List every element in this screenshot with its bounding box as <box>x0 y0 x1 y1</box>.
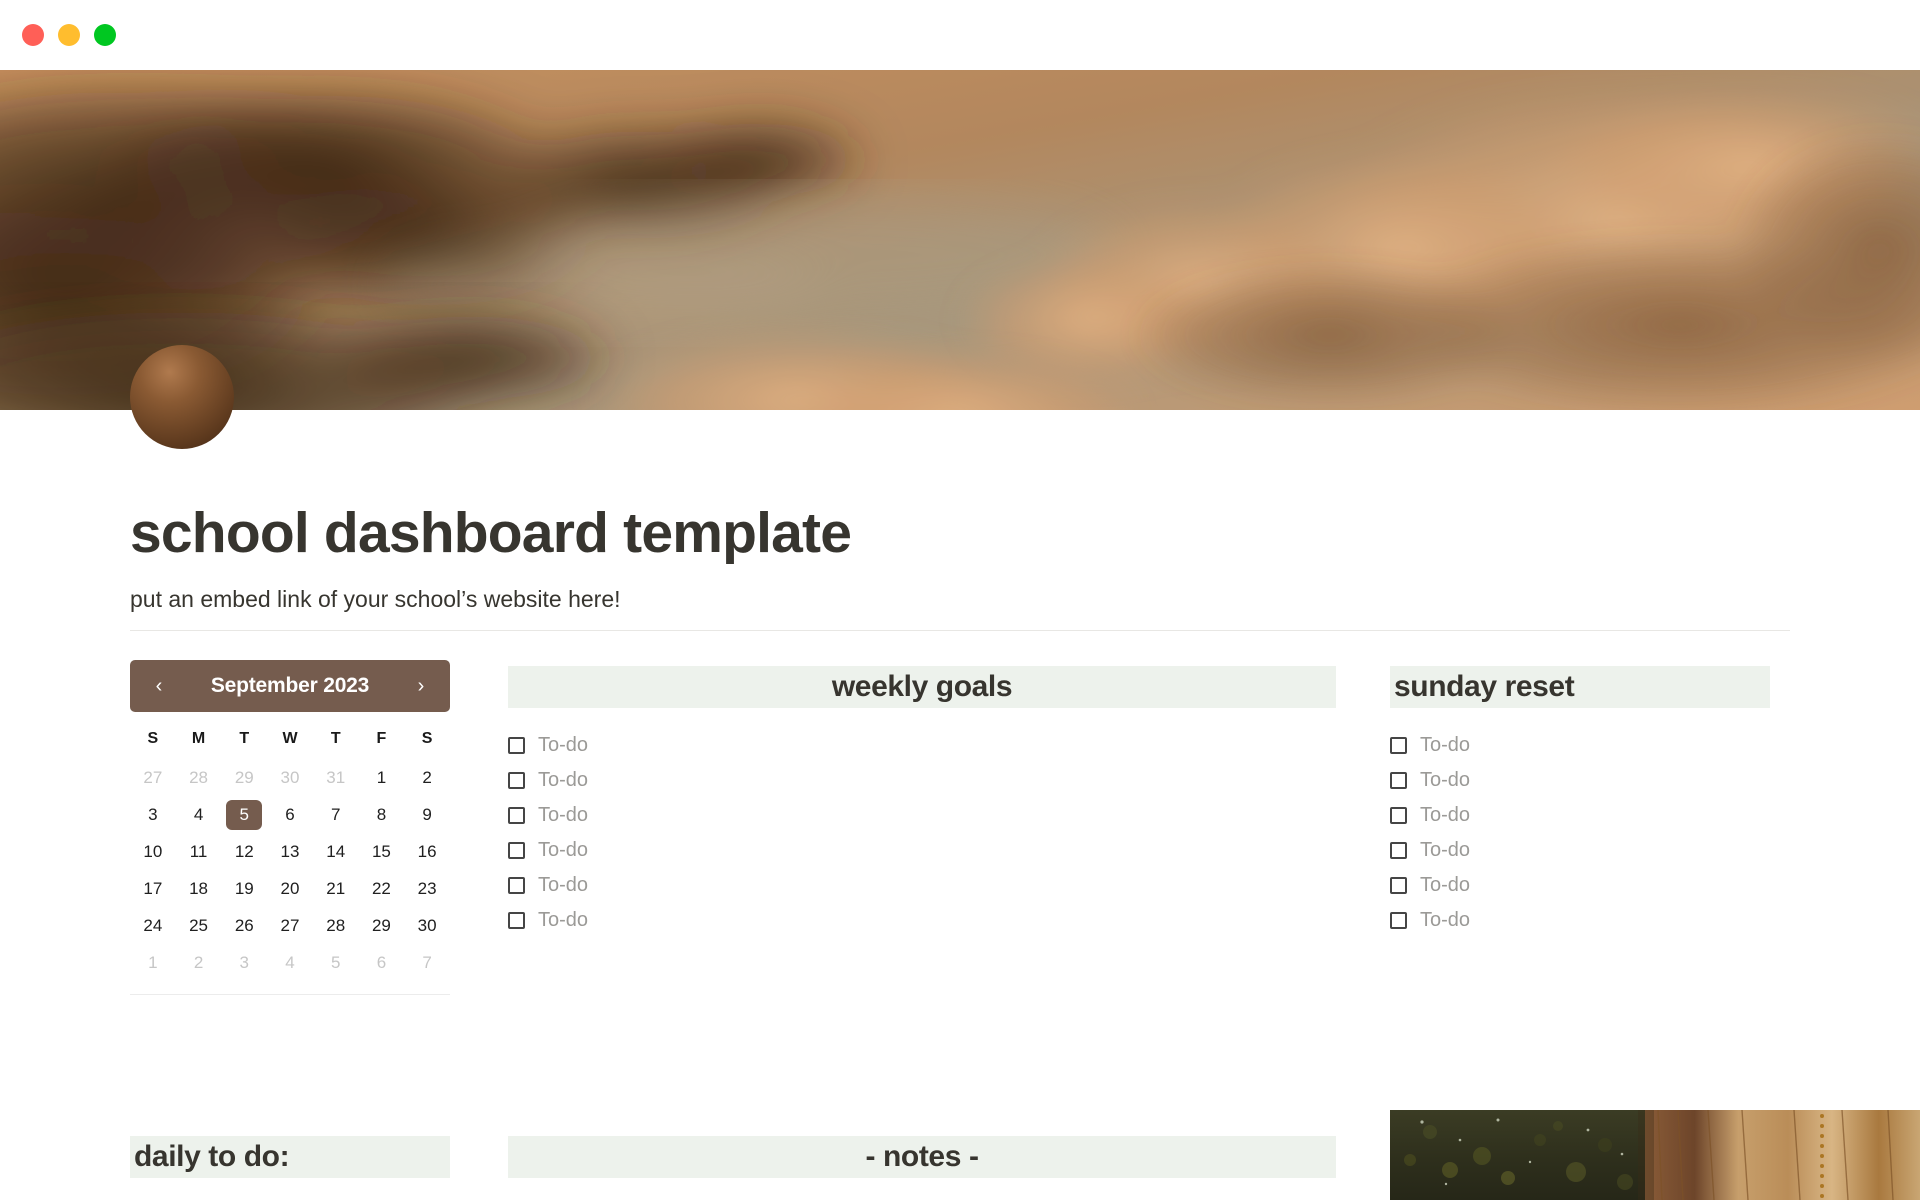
checkbox-icon[interactable] <box>1390 807 1407 824</box>
calendar-day[interactable]: 7 <box>404 948 450 978</box>
bottom-photo[interactable] <box>1390 1110 1920 1200</box>
weekly-goal-label: To-do <box>538 769 588 792</box>
weekly-goal-label: To-do <box>538 804 588 827</box>
checkbox-icon[interactable] <box>1390 912 1407 929</box>
weekly-goal-label: To-do <box>538 874 588 897</box>
calendar-day[interactable]: 23 <box>404 874 450 904</box>
weekly-goal-item[interactable]: To-do <box>508 903 1336 938</box>
checkbox-icon[interactable] <box>1390 772 1407 789</box>
checkbox-icon[interactable] <box>508 877 525 894</box>
calendar-day[interactable]: 3 <box>221 948 267 978</box>
weekly-goal-label: To-do <box>538 839 588 862</box>
notes-header: - notes - <box>508 1136 1336 1178</box>
sunday-reset-item[interactable]: To-do <box>1390 833 1770 868</box>
calendar-dow-3: W <box>267 730 313 756</box>
calendar-dow-1: M <box>176 730 222 756</box>
calendar-day[interactable]: 28 <box>176 763 222 793</box>
sunday-reset-label: To-do <box>1420 874 1470 897</box>
weekly-goal-item[interactable]: To-do <box>508 868 1336 903</box>
calendar-day[interactable]: 26 <box>221 911 267 941</box>
calendar-day[interactable]: 22 <box>359 874 405 904</box>
avatar[interactable] <box>130 345 234 449</box>
page-body: school dashboard template put an embed l… <box>0 410 1920 1200</box>
daily-todo-title: daily to do: <box>134 1140 289 1174</box>
maximize-button[interactable] <box>94 24 116 46</box>
notes-title: - notes - <box>865 1140 978 1174</box>
calendar-day[interactable]: 28 <box>313 911 359 941</box>
weekly-goal-item[interactable]: To-do <box>508 728 1336 763</box>
calendar-day[interactable]: 27 <box>130 763 176 793</box>
weekly-goal-label: To-do <box>538 734 588 757</box>
daily-todo-header: daily to do: <box>130 1136 450 1178</box>
calendar-day[interactable]: 12 <box>221 837 267 867</box>
sunday-reset-list: To-doTo-doTo-doTo-doTo-doTo-do <box>1390 728 1770 938</box>
checkbox-icon[interactable] <box>1390 737 1407 754</box>
calendar-day[interactable]: 5 <box>313 948 359 978</box>
header-divider <box>130 630 1790 631</box>
sunday-reset-item[interactable]: To-do <box>1390 868 1770 903</box>
weekly-goals-title: weekly goals <box>832 670 1012 704</box>
sunday-reset-label: To-do <box>1420 769 1470 792</box>
calendar-day[interactable]: 1 <box>359 763 405 793</box>
calendar-day[interactable]: 17 <box>130 874 176 904</box>
calendar-day[interactable]: 31 <box>313 763 359 793</box>
calendar-day[interactable]: 2 <box>176 948 222 978</box>
sunday-reset-label: To-do <box>1420 909 1470 932</box>
calendar-footer-divider <box>130 994 450 995</box>
calendar-day[interactable]: 10 <box>130 837 176 867</box>
checkbox-icon[interactable] <box>1390 877 1407 894</box>
calendar-day[interactable]: 6 <box>359 948 405 978</box>
calendar-day[interactable]: 24 <box>130 911 176 941</box>
sunday-reset-item[interactable]: To-do <box>1390 798 1770 833</box>
minimize-button[interactable] <box>58 24 80 46</box>
calendar-dow-0: S <box>130 730 176 756</box>
weekly-goals-list: To-doTo-doTo-doTo-doTo-doTo-do <box>508 728 1336 938</box>
calendar-day[interactable]: 29 <box>359 911 405 941</box>
calendar-day[interactable]: 11 <box>176 837 222 867</box>
calendar-day-selected[interactable]: 5 <box>226 800 262 830</box>
calendar-day[interactable]: 14 <box>313 837 359 867</box>
calendar-day[interactable]: 30 <box>267 763 313 793</box>
sunday-reset-label: To-do <box>1420 804 1470 827</box>
calendar-grid: SMTWTFS272829303112345678910111213141516… <box>130 730 450 978</box>
calendar-month-label: September 2023 <box>211 674 369 698</box>
sunday-reset-header: sunday reset <box>1390 666 1770 708</box>
checkbox-icon[interactable] <box>508 842 525 859</box>
close-button[interactable] <box>22 24 44 46</box>
calendar-dow-4: T <box>313 730 359 756</box>
sunday-reset-label: To-do <box>1420 839 1470 862</box>
weekly-goal-item[interactable]: To-do <box>508 763 1336 798</box>
checkbox-icon[interactable] <box>508 807 525 824</box>
checkbox-icon[interactable] <box>1390 842 1407 859</box>
calendar-day[interactable]: 19 <box>221 874 267 904</box>
calendar-day[interactable]: 20 <box>267 874 313 904</box>
calendar-day[interactable]: 4 <box>267 948 313 978</box>
weekly-goal-item[interactable]: To-do <box>508 833 1336 868</box>
window-titlebar <box>0 0 1920 70</box>
weekly-goals-header: weekly goals <box>508 666 1336 708</box>
sunday-reset-title: sunday reset <box>1394 670 1574 704</box>
calendar-day[interactable]: 2 <box>404 763 450 793</box>
calendar-dow-5: F <box>359 730 405 756</box>
calendar-day[interactable]: 6 <box>267 800 313 830</box>
page-title: school dashboard template <box>130 505 851 562</box>
calendar-day[interactable]: 8 <box>359 800 405 830</box>
weekly-goal-item[interactable]: To-do <box>508 798 1336 833</box>
checkbox-icon[interactable] <box>508 737 525 754</box>
calendar-day[interactable]: 25 <box>176 911 222 941</box>
calendar-day[interactable]: 3 <box>130 800 176 830</box>
calendar-dow-2: T <box>221 730 267 756</box>
calendar-header: ‹ September 2023 › <box>130 660 450 712</box>
calendar-day[interactable]: 9 <box>404 800 450 830</box>
calendar-day[interactable]: 4 <box>176 800 222 830</box>
calendar-day[interactable]: 16 <box>404 837 450 867</box>
calendar-dow-6: S <box>404 730 450 756</box>
checkbox-icon[interactable] <box>508 772 525 789</box>
sunday-reset-item[interactable]: To-do <box>1390 763 1770 798</box>
calendar-day[interactable]: 15 <box>359 837 405 867</box>
chevron-right-icon[interactable]: › <box>410 676 432 696</box>
calendar-day[interactable]: 1 <box>130 948 176 978</box>
calendar-day[interactable]: 18 <box>176 874 222 904</box>
sunday-reset-label: To-do <box>1420 734 1470 757</box>
sunday-reset-item[interactable]: To-do <box>1390 903 1770 938</box>
sunday-reset-item[interactable]: To-do <box>1390 728 1770 763</box>
chevron-left-icon[interactable]: ‹ <box>148 676 170 696</box>
checkbox-icon[interactable] <box>508 912 525 929</box>
calendar-widget: ‹ September 2023 › SMTWTFS27282930311234… <box>130 660 450 995</box>
calendar-day[interactable]: 13 <box>267 837 313 867</box>
calendar-day[interactable]: 30 <box>404 911 450 941</box>
calendar-day[interactable]: 7 <box>313 800 359 830</box>
calendar-day[interactable]: 29 <box>221 763 267 793</box>
calendar-day[interactable]: 27 <box>267 911 313 941</box>
page-subtitle: put an embed link of your school’s websi… <box>130 588 621 611</box>
weekly-goal-label: To-do <box>538 909 588 932</box>
cover-photo[interactable] <box>0 70 1920 410</box>
calendar-day[interactable]: 21 <box>313 874 359 904</box>
